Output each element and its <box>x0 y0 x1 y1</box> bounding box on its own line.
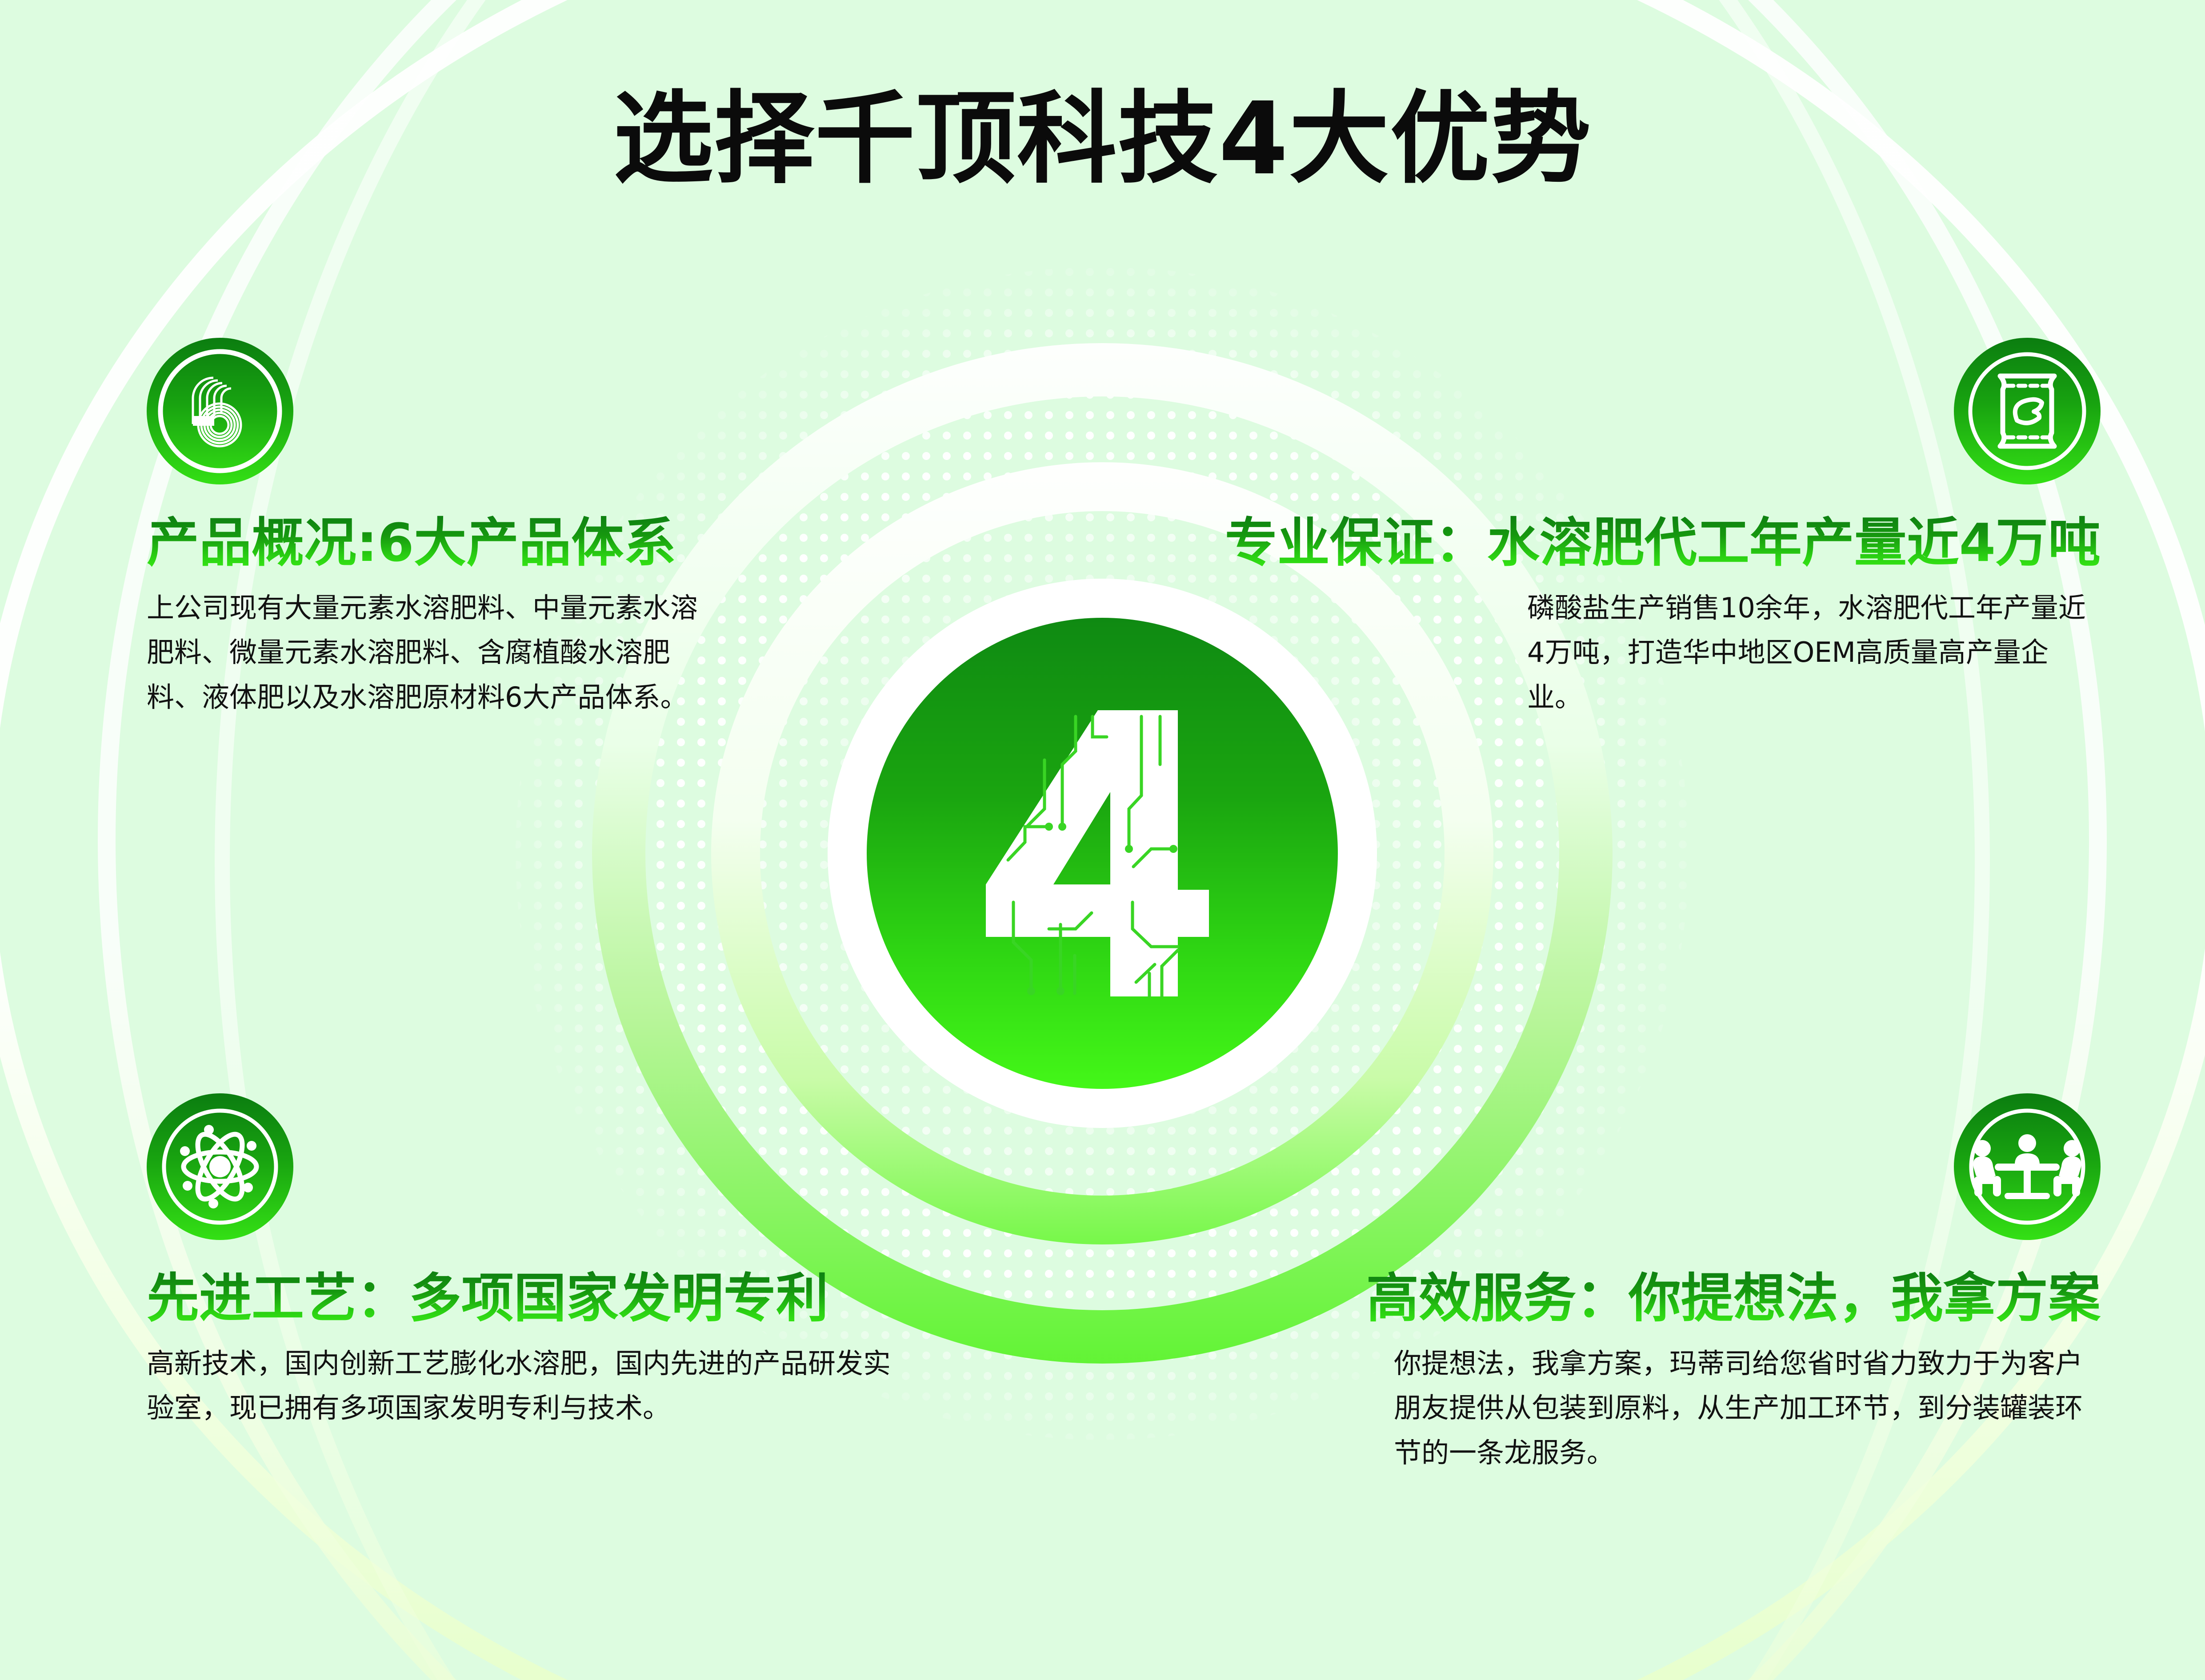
feature-block-advanced-process: 先进工艺：多项国家发明专利 高新技术，国内创新工艺膨化水溶肥，国内先进的产品研发… <box>147 1093 947 1431</box>
number-six-rings-icon <box>147 338 293 484</box>
feature-body: 上公司现有大量元素水溶肥料、中量元素水溶肥料、微量元素水溶肥料、含腐植酸水溶肥料… <box>147 586 704 720</box>
atom-icon <box>147 1093 293 1240</box>
icon-wrap <box>1256 1093 2101 1240</box>
page-title: 选择千顶科技4大优势 <box>0 84 2205 195</box>
feature-heading: 专业保证：水溶肥代工年产量近4万吨 <box>1225 513 2101 573</box>
feature-block-efficient-service: 高效服务：你提想法，我拿方案 你提想法，我拿方案，玛蒂司给您省时省力致力于为客户… <box>1256 1093 2101 1475</box>
feature-body: 高新技术，国内创新工艺膨化水溶肥，国内先进的产品研发实验室，现已拥有多项国家发明… <box>147 1341 898 1431</box>
feature-block-professional-guarantee: 专业保证：水溶肥代工年产量近4万吨 磷酸盐生产销售10余年，水溶肥代工年产量近4… <box>1145 338 2101 720</box>
icon-wrap <box>1145 338 2101 484</box>
icon-wrap <box>147 1093 947 1240</box>
feature-heading: 高效服务：你提想法，我拿方案 <box>1366 1268 2101 1329</box>
feature-body: 你提想法，我拿方案，玛蒂司给您省时省力致力于为客户朋友提供从包装到原料，从生产加… <box>1394 1341 2101 1475</box>
fertilizer-bag-icon <box>1954 338 2101 484</box>
icon-wrap <box>147 338 724 484</box>
feature-heading: 产品概况:6大产品体系 <box>147 513 724 573</box>
feature-heading: 先进工艺：多项国家发明专利 <box>147 1268 947 1329</box>
feature-body: 磷酸盐生产销售10余年，水溶肥代工年产量近4万吨，打造华中地区OEM高质量高产量… <box>1527 586 2101 720</box>
meeting-table-icon <box>1954 1093 2101 1240</box>
feature-block-product-overview: 产品概况:6大产品体系 上公司现有大量元素水溶肥料、中量元素水溶肥料、微量元素水… <box>147 338 724 720</box>
